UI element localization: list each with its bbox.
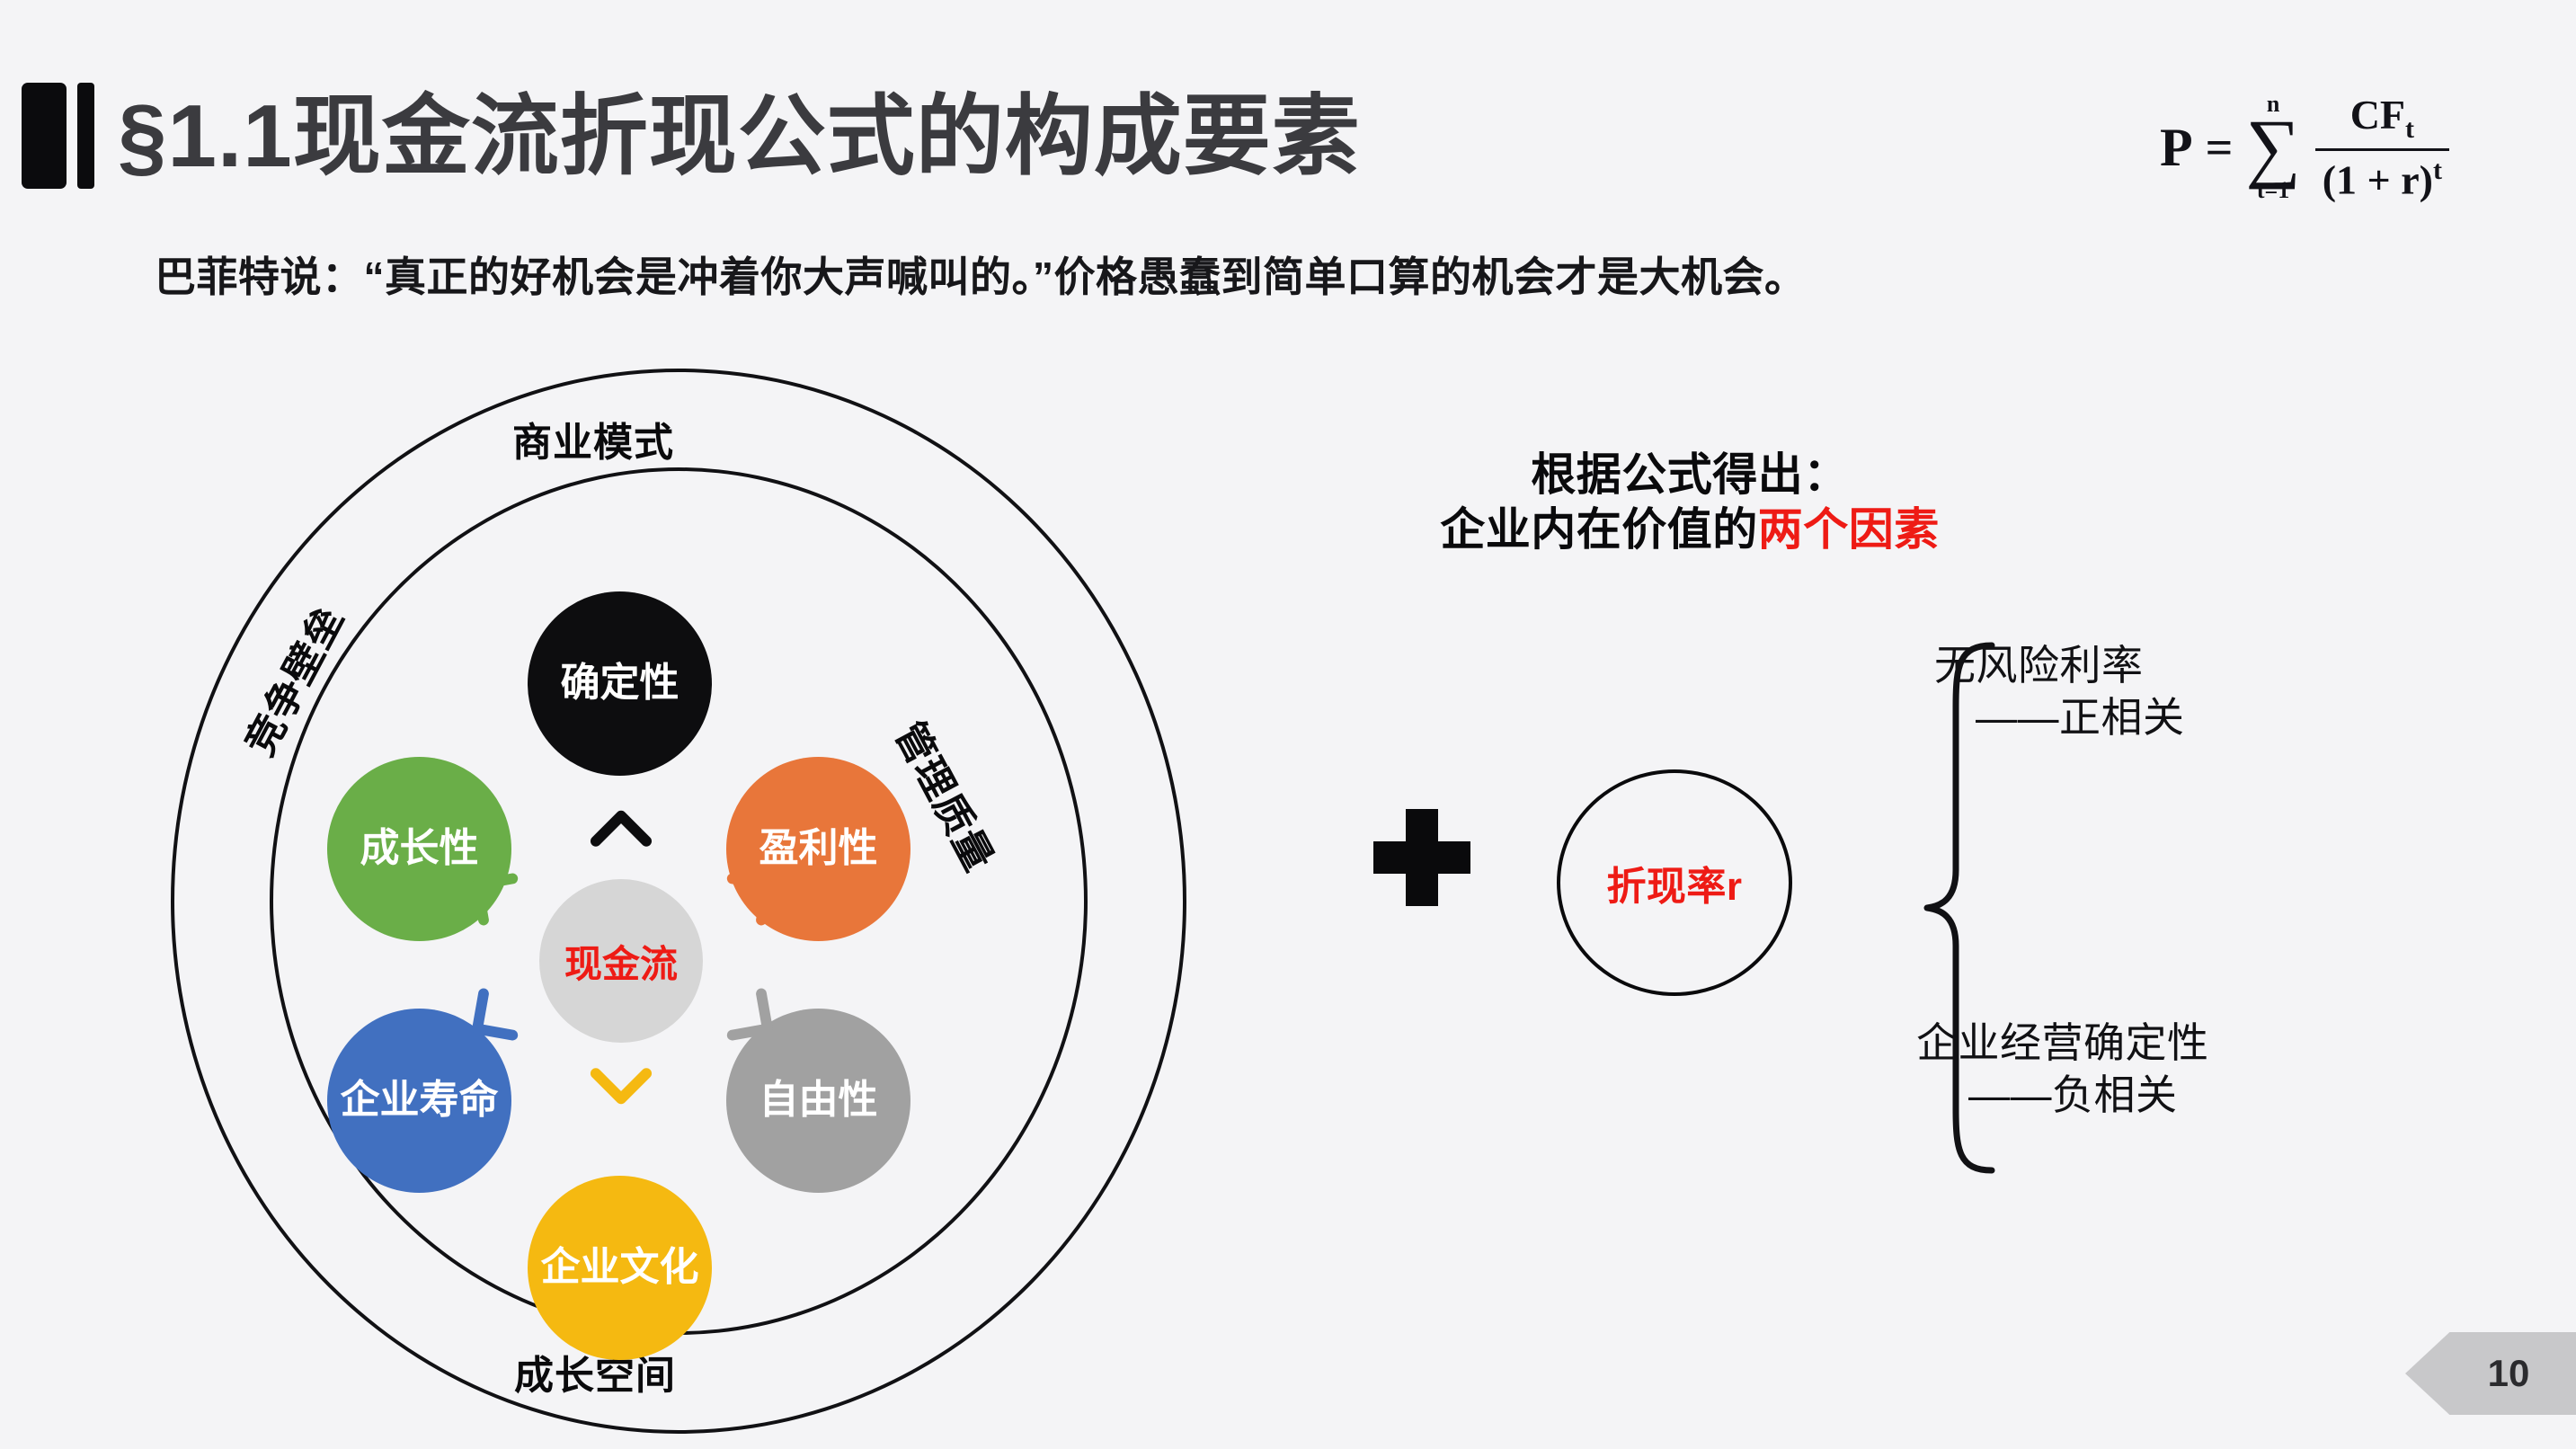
accent-bar-thin-icon [77, 83, 94, 189]
numerator-main: CF [2350, 92, 2405, 138]
page-number-badge: 10 [2405, 1332, 2576, 1415]
dcf-formula: P = n ∑ t=1 CFt (1 + r)t [2080, 76, 2529, 219]
node-discount-rate[interactable]: 折现率r [1557, 769, 1792, 996]
summation-lower-limit: t=1 [2257, 179, 2289, 202]
formula-summation: n ∑ t=1 [2245, 93, 2300, 201]
ring-label-top: 商业模式 [512, 410, 674, 467]
node-enterprise-culture[interactable]: 企业文化 [528, 1176, 712, 1360]
page-subtitle: 巴菲特说：“真正的好机会是冲着你大声喊叫的。”价格愚蠢到简单口算的机会才是大机会… [155, 244, 1807, 304]
branch-bottom-line2: ——负相关 [1916, 1070, 2209, 1122]
conclusion-plain-part: 企业内在价值的 [1440, 504, 1758, 555]
sigma-icon: ∑ [2245, 112, 2300, 182]
accent-bar-thick-icon [22, 83, 67, 189]
conclusion-highlight-part: 两个因素 [1758, 504, 1940, 555]
denominator-superscript: t [2433, 156, 2442, 185]
branch-top-line2: ——正相关 [1934, 692, 2185, 744]
conclusion-text: 根据公式得出： 企业内在价值的两个因素 [1294, 448, 2085, 557]
formula-denominator: (1 + r)t [2315, 148, 2449, 203]
node-cash-flow[interactable]: 现金流 [539, 879, 703, 1043]
denominator-main: (1 + r) [2323, 157, 2433, 203]
node-certainty[interactable]: 确定性 [528, 591, 712, 776]
slide-title-row: §1.1现金流折现公式的构成要素 [0, 77, 1361, 194]
plus-icon [1373, 809, 1470, 906]
formula-equals: = [2206, 120, 2234, 175]
branch-operating-certainty: 企业经营确定性 ——负相关 [1916, 1018, 2209, 1122]
branch-bottom-line1: 企业经营确定性 [1916, 1019, 2209, 1066]
conclusion-line-2: 企业内在价值的两个因素 [1294, 502, 2085, 557]
conclusion-line-1: 根据公式得出： [1294, 448, 2085, 502]
formula-lhs: P [2160, 117, 2193, 179]
value-drivers-diagram: 商业模式 成长空间 竞争壁垒 管理质量 确定性 成长性 盈利性 企业寿命 自由性… [144, 360, 1222, 1438]
branch-risk-free-rate: 无风险利率 ——正相关 [1934, 640, 2185, 744]
title-accent-bars [22, 83, 94, 189]
numerator-subscript: t [2405, 114, 2414, 144]
chevron-up-icon [588, 795, 654, 861]
formula-fraction: CFt (1 + r)t [2315, 92, 2449, 204]
page-title: §1.1现金流折现公式的构成要素 [118, 92, 1361, 180]
chevron-down-icon [588, 1053, 654, 1120]
formula-numerator: CFt [2343, 92, 2421, 149]
branch-top-line1: 无风险利率 [1934, 642, 2144, 689]
slide-canvas: §1.1现金流折现公式的构成要素 巴菲特说：“真正的好机会是冲着你大声喊叫的。”… [0, 0, 2576, 1449]
